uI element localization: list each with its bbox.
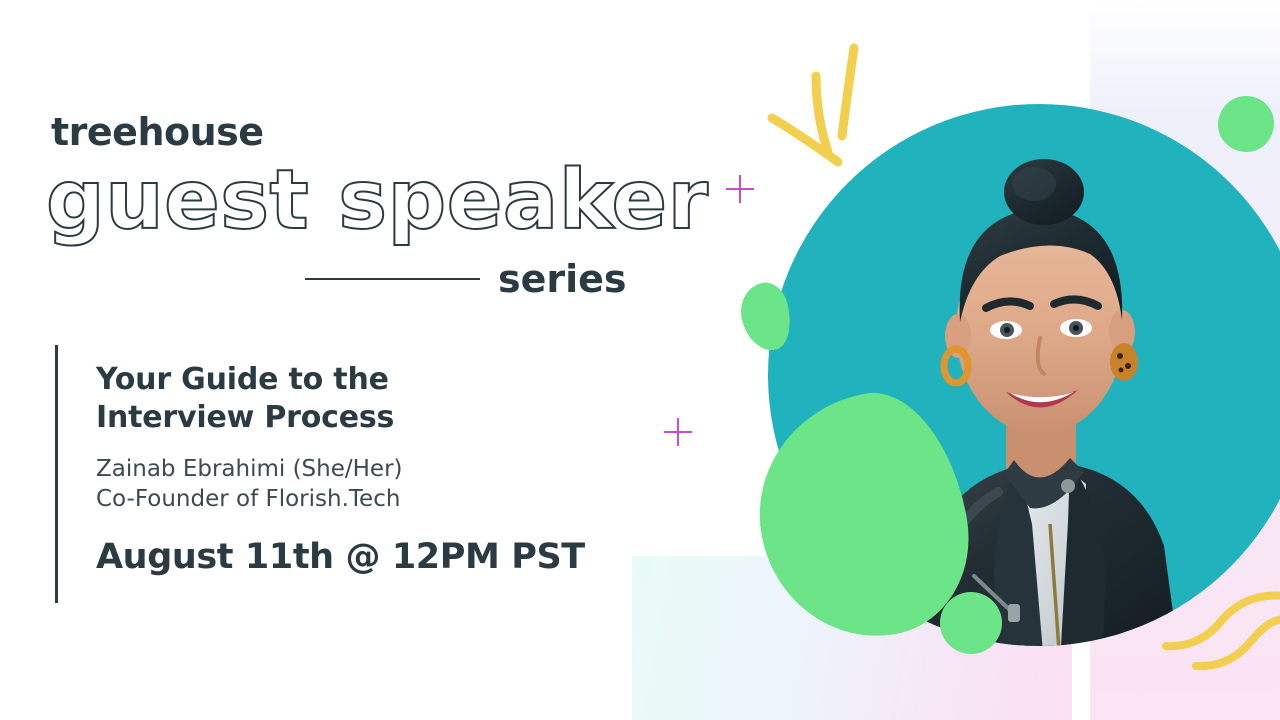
bottom-gradient-panel: [632, 556, 1072, 720]
brand-name: treehouse: [51, 110, 264, 154]
green-dot-right-icon: [1218, 96, 1274, 152]
speaker-name: Zainab Ebrahimi (She/Her): [96, 454, 585, 484]
green-dot-bottom-icon: [940, 592, 1002, 654]
green-blob-large-icon: [741, 380, 985, 654]
speaker-role: Co-Founder of Florish.Tech: [96, 484, 585, 514]
text-column: treehouse guest speaker series Your Guid…: [0, 0, 660, 720]
event-info-block: Your Guide to the Interview Process Zain…: [55, 345, 585, 603]
plus-mark-mid-icon: [664, 418, 692, 446]
series-divider-rule: [305, 278, 480, 280]
plus-mark-top-icon: [726, 175, 754, 203]
speaker-portrait: [768, 104, 1280, 646]
green-blob-small-icon: [734, 278, 797, 356]
promo-slide: treehouse guest speaker series Your Guid…: [0, 0, 1280, 720]
yellow-squiggle-strokes-icon: [1160, 590, 1280, 670]
headline-outline-text: guest speaker: [46, 160, 709, 242]
series-row: series: [305, 256, 625, 302]
teal-circle-backdrop: [768, 104, 1280, 646]
right-gradient-panel: [1090, 0, 1280, 720]
event-datetime: August 11th @ 12PM PST: [96, 537, 585, 577]
talk-title: Your Guide to the Interview Process: [96, 361, 585, 438]
series-label: series: [498, 257, 627, 301]
yellow-burst-strokes-icon: [750, 40, 890, 180]
